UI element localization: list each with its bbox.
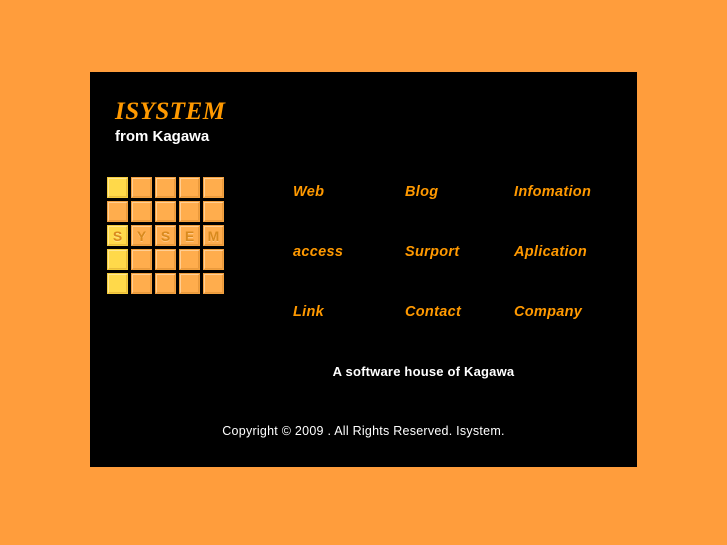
mosaic-tile	[155, 201, 176, 222]
nav-link-blog[interactable]: Blog	[405, 184, 514, 200]
mosaic-tile	[107, 201, 128, 222]
mosaic-tile	[155, 177, 176, 198]
mosaic-tile-letter: S	[107, 225, 128, 246]
mosaic-tile	[179, 177, 200, 198]
mosaic-tile	[131, 201, 152, 222]
brand-block: ISYSTEM from Kagawa	[115, 99, 225, 147]
mosaic-tile	[203, 177, 224, 198]
nav-link-web[interactable]: Web	[293, 184, 405, 200]
nav-link-company[interactable]: Company	[514, 304, 591, 320]
mosaic-tile	[107, 177, 128, 198]
mosaic-tile	[179, 273, 200, 294]
content-panel: ISYSTEM from Kagawa SYSEM WebBlogInfomat…	[90, 72, 637, 467]
mosaic-tile	[131, 273, 152, 294]
mosaic-tile	[179, 249, 200, 270]
mosaic-tile-letter: E	[179, 225, 200, 246]
logo-tile-mosaic: SYSEM	[107, 177, 224, 294]
mosaic-tile	[155, 273, 176, 294]
main-navigation: WebBlogInfomationaccessSurportAplication…	[293, 184, 591, 320]
mosaic-tile	[203, 201, 224, 222]
nav-link-infomation[interactable]: Infomation	[514, 184, 591, 200]
mosaic-tile	[179, 201, 200, 222]
mosaic-tile	[131, 177, 152, 198]
mosaic-tile	[131, 249, 152, 270]
page-root: ISYSTEM from Kagawa SYSEM WebBlogInfomat…	[0, 0, 727, 545]
mosaic-tile-letter: S	[155, 225, 176, 246]
nav-link-surport[interactable]: Surport	[405, 244, 514, 260]
tagline: A software house of Kagawa	[90, 364, 637, 379]
mosaic-tile	[107, 249, 128, 270]
copyright-text: Copyright © 2009 . All Rights Reserved. …	[90, 424, 637, 438]
mosaic-tile-letter: Y	[131, 225, 152, 246]
brand-subtitle: from Kagawa	[115, 127, 225, 147]
mosaic-tile	[203, 249, 224, 270]
nav-link-link[interactable]: Link	[293, 304, 405, 320]
nav-link-contact[interactable]: Contact	[405, 304, 514, 320]
nav-link-access[interactable]: access	[293, 244, 405, 260]
mosaic-tile	[203, 273, 224, 294]
mosaic-tile-letter: M	[203, 225, 224, 246]
nav-link-aplication[interactable]: Aplication	[514, 244, 591, 260]
mosaic-tile	[155, 249, 176, 270]
mosaic-tile	[107, 273, 128, 294]
brand-title: ISYSTEM	[115, 99, 225, 125]
